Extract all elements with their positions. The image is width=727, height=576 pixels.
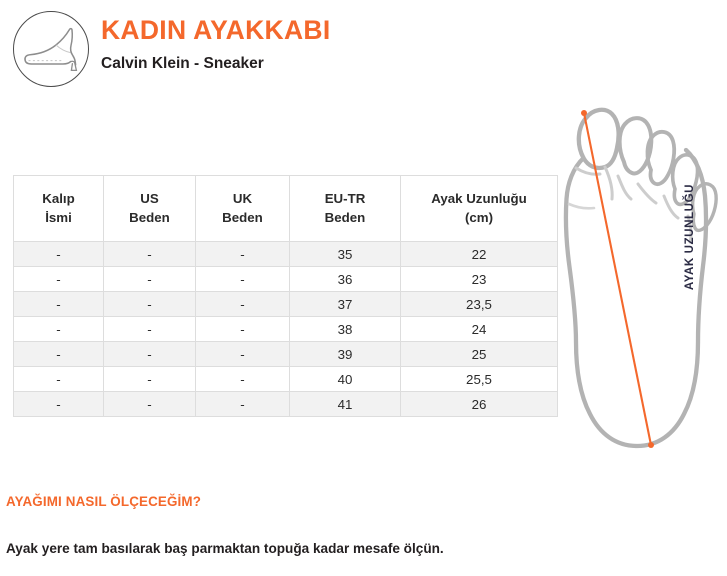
cell-eu-tr-beden: 37 — [290, 292, 401, 317]
cell-ayak-uzunlugu: 25 — [401, 342, 558, 367]
cell-uk-beden: - — [196, 392, 290, 417]
header-line-1: US — [140, 191, 158, 206]
header-line-2: İsmi — [45, 210, 72, 225]
cell-us-beden: - — [104, 367, 196, 392]
high-heel-shoe-glyph — [22, 26, 82, 74]
cell-eu-tr-beden: 36 — [290, 267, 401, 292]
measure-instructions-heading: AYAĞIMI NASIL ÖLÇECEĞİM? — [6, 494, 706, 509]
cell-eu-tr-beden: 38 — [290, 317, 401, 342]
header-line-2: (cm) — [465, 210, 493, 225]
cell-eu-tr-beden: 35 — [290, 242, 401, 267]
cell-kalip-ismi: - — [14, 317, 104, 342]
cell-uk-beden: - — [196, 292, 290, 317]
table-row: - - - 39 25 — [14, 342, 558, 367]
crease-line-3 — [618, 176, 631, 199]
measure-endpoint-toe — [581, 110, 587, 116]
cell-uk-beden: - — [196, 367, 290, 392]
cell-uk-beden: - — [196, 242, 290, 267]
size-chart-table-container: Kalıp İsmi US Beden UK Beden EU-TR Beden… — [13, 175, 557, 417]
title-block: KADIN AYAKKABI Calvin Klein - Sneaker — [101, 14, 521, 75]
page-subtitle: Calvin Klein - Sneaker — [101, 53, 521, 75]
table-row: - - - 36 23 — [14, 267, 558, 292]
header: KADIN AYAKKABI Calvin Klein - Sneaker — [0, 0, 727, 100]
cell-ayak-uzunlugu: 23,5 — [401, 292, 558, 317]
measure-instructions-text: Ayak yere tam basılarak baş parmaktan to… — [6, 541, 706, 556]
cell-us-beden: - — [104, 317, 196, 342]
measure-endpoint-heel — [648, 442, 654, 448]
cell-us-beden: - — [104, 242, 196, 267]
table-row: - - - 40 25,5 — [14, 367, 558, 392]
cell-ayak-uzunlugu: 25,5 — [401, 367, 558, 392]
table-row: - - - 37 23,5 — [14, 292, 558, 317]
table-row: - - - 38 24 — [14, 317, 558, 342]
size-chart-table: Kalıp İsmi US Beden UK Beden EU-TR Beden… — [13, 175, 558, 417]
column-header-us-beden: US Beden — [104, 176, 196, 242]
cell-us-beden: - — [104, 267, 196, 292]
cell-kalip-ismi: - — [14, 367, 104, 392]
column-header-ayak-uzunlugu: Ayak Uzunluğu (cm) — [401, 176, 558, 242]
cell-kalip-ismi: - — [14, 242, 104, 267]
cell-ayak-uzunlugu: 22 — [401, 242, 558, 267]
crease-line-2 — [605, 167, 612, 199]
header-line-2: Beden — [129, 210, 170, 225]
cell-ayak-uzunlugu: 26 — [401, 392, 558, 417]
crease-line-7 — [569, 204, 594, 208]
cell-ayak-uzunlugu: 24 — [401, 317, 558, 342]
high-heel-shoe-icon — [13, 11, 89, 87]
header-line-1: Ayak Uzunluğu — [431, 191, 527, 206]
cell-uk-beden: - — [196, 317, 290, 342]
column-header-kalip-ismi: Kalıp İsmi — [14, 176, 104, 242]
column-header-uk-beden: UK Beden — [196, 176, 290, 242]
page-title: KADIN AYAKKABI — [101, 14, 521, 46]
header-line-1: UK — [233, 191, 252, 206]
cell-eu-tr-beden: 41 — [290, 392, 401, 417]
cell-us-beden: - — [104, 392, 196, 417]
table-row: - - - 35 22 — [14, 242, 558, 267]
toe-3 — [647, 132, 674, 184]
table-row: - - - 41 26 — [14, 392, 558, 417]
cell-kalip-ismi: - — [14, 292, 104, 317]
cell-kalip-ismi: - — [14, 267, 104, 292]
cell-eu-tr-beden: 39 — [290, 342, 401, 367]
cell-ayak-uzunlugu: 23 — [401, 267, 558, 292]
cell-kalip-ismi: - — [14, 392, 104, 417]
measure-instructions: AYAĞIMI NASIL ÖLÇECEĞİM? Ayak yere tam b… — [6, 494, 706, 556]
foot-length-label: AYAK UZUNLUĞU — [678, 167, 702, 307]
header-line-1: Kalıp — [42, 191, 75, 206]
table-header-row: Kalıp İsmi US Beden UK Beden EU-TR Beden… — [14, 176, 558, 242]
cell-us-beden: - — [104, 292, 196, 317]
crease-line-4 — [638, 184, 656, 203]
cell-eu-tr-beden: 40 — [290, 367, 401, 392]
cell-us-beden: - — [104, 342, 196, 367]
foot-length-measure-line — [584, 113, 651, 445]
column-header-eu-tr-beden: EU-TR Beden — [290, 176, 401, 242]
cell-uk-beden: - — [196, 267, 290, 292]
header-line-2: Beden — [325, 210, 366, 225]
cell-uk-beden: - — [196, 342, 290, 367]
cell-kalip-ismi: - — [14, 342, 104, 367]
header-line-1: EU-TR — [325, 191, 366, 206]
header-line-2: Beden — [222, 210, 263, 225]
